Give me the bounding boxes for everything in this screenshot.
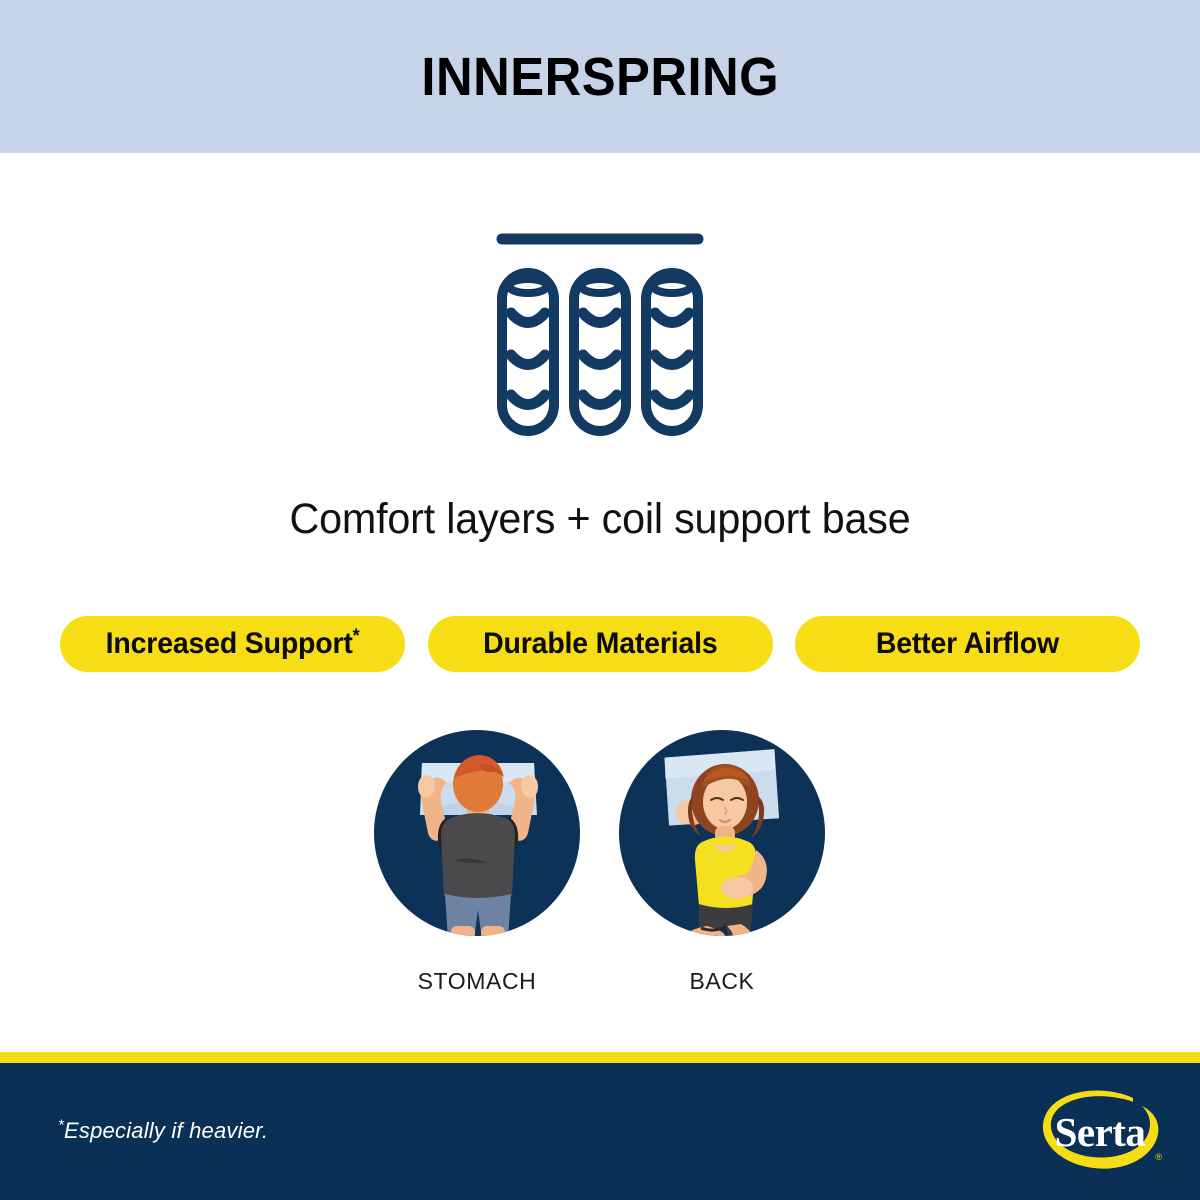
footnote-marker: * [353, 626, 360, 647]
back-sleeper-illustration [619, 730, 825, 936]
hero-tagline: Comfort layers + coil support base [24, 495, 1176, 544]
back-sleeper-circle [619, 730, 825, 936]
header-band: INNERSPRING [0, 0, 1200, 153]
page-title: INNERSPRING [421, 46, 779, 108]
serta-logo-swoosh-icon [1032, 1082, 1168, 1182]
registered-mark: ® [1155, 1152, 1162, 1162]
footnote-text: *Especially if heavier. [58, 1118, 268, 1144]
sleep-position-back[interactable]: BACK [599, 730, 845, 995]
coil-stack-icon-svg [480, 225, 720, 450]
sleep-position-label: STOMACH [354, 968, 600, 995]
sleep-position-stomach[interactable]: STOMACH [354, 730, 600, 995]
benefit-pill-row: Increased Support* Durable Materials Bet… [60, 616, 1140, 672]
coil-stack-icon [480, 225, 720, 450]
footer-accent-stripe [0, 1052, 1200, 1063]
stomach-sleeper-circle [374, 730, 580, 936]
benefit-pill-label: Better Airflow [876, 627, 1059, 661]
serta-logo[interactable]: Serta ® [1032, 1082, 1168, 1182]
benefit-pill-label: Increased Support* [106, 627, 360, 661]
innerspring-infographic: INNERSPRING [0, 0, 1200, 1200]
benefit-pill-increased-support[interactable]: Increased Support* [60, 616, 405, 672]
benefit-pill-durable-materials[interactable]: Durable Materials [428, 616, 773, 672]
sleep-position-label: BACK [599, 968, 845, 995]
benefit-pill-label: Durable Materials [483, 627, 717, 661]
benefit-pill-better-airflow[interactable]: Better Airflow [795, 616, 1140, 672]
stomach-sleeper-illustration [374, 730, 580, 936]
sleep-position-group: STOMACH [0, 730, 1200, 1030]
